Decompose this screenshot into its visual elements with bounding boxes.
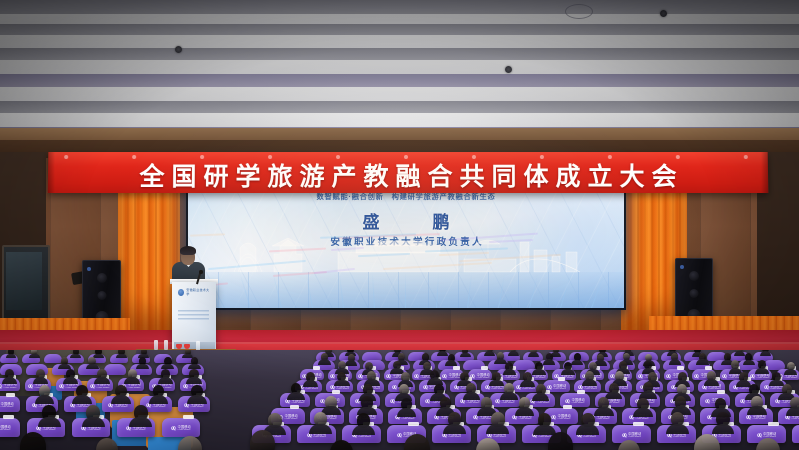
audience-member-shoulders	[582, 379, 597, 386]
banner-grommet	[744, 155, 748, 159]
audience-member-shoulders	[82, 417, 105, 427]
screen-grid-line	[591, 274, 604, 308]
audience-member-shoulders	[500, 392, 517, 400]
china-mobile-logo-icon	[414, 374, 419, 379]
audience-chair-cover: 中国移动China Mobile	[0, 418, 20, 437]
audience-member-shoulders	[334, 380, 349, 387]
chair-brand-label: 中国移动China Mobile	[477, 374, 490, 380]
audience-chair-cover: 中国移动China Mobile	[0, 396, 20, 412]
podium-logo-icon	[178, 289, 184, 296]
curtain-fold	[651, 172, 653, 332]
china-mobile-logo-icon	[622, 433, 627, 438]
seat-number-label	[577, 390, 585, 394]
china-mobile-logo-icon	[746, 415, 751, 420]
curtain-fold	[658, 172, 660, 332]
audience-member-shoulders	[571, 360, 583, 365]
chair-brand-label: 中国移动China Mobile	[97, 383, 110, 389]
china-mobile-logo-icon	[722, 374, 727, 379]
screen-grid-line	[622, 275, 624, 308]
cup-icon	[176, 344, 182, 349]
china-mobile-logo-icon	[551, 415, 556, 420]
chair-brand-label: 中国移动China Mobile	[757, 374, 770, 380]
banner-grommet	[404, 155, 408, 159]
audience-member-shoulders	[2, 377, 18, 384]
chair-brand-label: 中国移动China Mobile	[4, 383, 17, 389]
audience-seating-area: 中国移动China Mobile中国移动China Mobile中国移动Chin…	[0, 350, 799, 450]
chair-brand-tag: 中国移动China Mobile	[171, 426, 191, 432]
chair-brand-tag: 中国移动China Mobile	[495, 399, 515, 405]
audience-member-shoulders	[63, 377, 79, 384]
audience-member-shoulders	[755, 368, 769, 374]
audience-member-shoulders	[136, 364, 149, 370]
screen-grid-line	[239, 273, 250, 308]
audience-member-shoulders	[72, 395, 91, 404]
seat-number-label	[313, 366, 320, 370]
banner-grommet	[472, 155, 476, 159]
audience-member-shoulders	[543, 359, 555, 364]
curtain-fold	[148, 172, 150, 332]
speaker-driver-icon	[689, 271, 699, 281]
banner-title-text: 全国研学旅游产教融合共同体成立大会	[48, 157, 768, 193]
chair-brand-tag: 中国移动China Mobile	[470, 374, 490, 380]
curtain-fold	[127, 172, 129, 332]
china-mobile-logo-icon	[454, 385, 459, 390]
audience-member-shoulders	[734, 351, 745, 356]
audience-member-shoulders	[786, 407, 799, 416]
screen-grid-line	[339, 272, 344, 308]
audience-member-shoulders	[532, 369, 546, 375]
audience-member-shoulders	[696, 359, 708, 364]
banner-grommet	[676, 155, 680, 159]
china-mobile-logo-icon	[392, 385, 397, 390]
speaker-led-indicator	[87, 267, 91, 271]
audience-member-shoulders	[116, 354, 127, 359]
audience-member-shoulders	[594, 407, 614, 416]
banner-grommet	[336, 155, 340, 159]
seat-number-label	[408, 422, 419, 426]
audience-member-shoulders	[86, 364, 99, 370]
chair-brand-label: 中国移动China Mobile	[572, 399, 585, 405]
audience-member-shoulders	[124, 377, 140, 384]
curtain-fold	[630, 172, 632, 332]
china-mobile-logo-icon	[90, 384, 95, 389]
seat-number-label	[768, 422, 779, 426]
audience-member-shoulders	[149, 395, 168, 404]
curtain-fold	[155, 172, 157, 332]
audience-member-shoulders	[508, 351, 519, 356]
audience-member-shoulders	[38, 417, 61, 427]
audience-member-shoulders	[29, 354, 40, 359]
china-mobile-logo-icon	[183, 384, 188, 389]
audience-member-head	[178, 436, 202, 450]
china-mobile-logo-icon	[638, 374, 643, 379]
china-mobile-logo-icon	[565, 399, 570, 404]
seat-number-label	[3, 415, 14, 419]
audience-member-shoulders	[186, 377, 202, 384]
chair-brand-label: 中国移动China Mobile	[584, 385, 597, 391]
audience-member-shoulders	[528, 352, 539, 357]
banner-right-shadow	[761, 152, 768, 193]
screen-grid-line	[436, 272, 439, 308]
audience-member-shoulders	[743, 360, 755, 365]
red-event-banner: 全国研学旅游产教融合共同体成立大会	[48, 152, 768, 193]
china-mobile-logo-icon	[0, 384, 2, 389]
seat-number-label	[563, 405, 573, 409]
chair-brand-label: 中国移动China Mobile	[0, 426, 11, 432]
banner-left-shadow	[48, 152, 55, 193]
china-mobile-logo-icon	[485, 385, 490, 390]
audience-chair-cover	[44, 354, 62, 363]
chair-brand-tag: 中国移动China Mobile	[565, 399, 585, 405]
water-bottle-icon	[164, 340, 168, 350]
screen-grid-line	[405, 272, 406, 308]
chair-brand-tag: 中国移动China Mobile	[551, 415, 571, 421]
china-mobile-logo-icon	[423, 385, 428, 390]
china-mobile-logo-icon	[171, 426, 176, 431]
podium-decor-lines	[178, 310, 209, 322]
audience-member-shoulders	[747, 406, 767, 415]
china-mobile-logo-icon	[666, 374, 671, 379]
audience-member-shoulders	[111, 395, 130, 404]
audience-member-shoulders	[437, 351, 448, 356]
seat-number-label	[717, 390, 725, 394]
audience-member-head	[250, 430, 275, 450]
chair-brand-tag: 中国移动China Mobile	[0, 426, 11, 432]
audience-chair-cover: 中国移动China Mobile	[792, 425, 799, 443]
audience-member-shoulders	[576, 424, 599, 434]
screen-grid-line	[467, 272, 472, 308]
audience-member-shoulders	[633, 408, 653, 417]
seat-number-label	[633, 422, 644, 426]
screen-grid-line	[498, 272, 505, 308]
curtain-fold	[672, 172, 674, 332]
seat-number-label	[677, 366, 684, 370]
china-mobile-logo-icon	[330, 374, 335, 379]
audience-member-shoulders	[158, 377, 174, 384]
chair-brand-tag: 中国移动China Mobile	[90, 383, 110, 389]
banner-grommet	[200, 155, 204, 159]
chair-brand-tag: 中国移动China Mobile	[746, 415, 766, 421]
seat-number-label	[290, 405, 300, 409]
chair-brand-tag: 中国移动China Mobile	[0, 383, 17, 389]
seat-number-label	[558, 377, 566, 381]
podium-logo-label: 安徽职业技术大学	[186, 289, 210, 296]
china-mobile-logo-icon	[386, 374, 391, 379]
chair-brand-label: 中国移动China Mobile	[1, 403, 14, 409]
audience-member-shoulders	[6, 354, 17, 359]
chair-brand-label: 中国移动China Mobile	[558, 415, 571, 421]
audience-chair-cover	[104, 364, 126, 375]
chair-brand-label: 中国移动China Mobile	[128, 383, 141, 389]
china-mobile-logo-icon	[757, 433, 762, 438]
curtain-fold	[169, 172, 171, 332]
chair-brand-label: 中国移动China Mobile	[553, 385, 566, 391]
china-mobile-logo-icon	[397, 433, 402, 438]
screen-grid-line	[372, 272, 375, 308]
audience-member-shoulders	[489, 380, 504, 387]
chair-brand-tag: 中国移动China Mobile	[750, 374, 770, 380]
seat-number-label	[453, 366, 460, 370]
china-mobile-logo-icon	[702, 385, 707, 390]
audience-member-shoulders	[445, 360, 457, 365]
cup-icon	[184, 344, 190, 349]
seat-number-label	[481, 366, 488, 370]
china-mobile-logo-icon	[764, 385, 769, 390]
screen-perspective-grid	[188, 272, 624, 308]
audience-member-shoulders	[484, 351, 495, 356]
screen-grid-line	[529, 273, 538, 308]
speaker-driver-icon	[97, 273, 107, 283]
audience-member-shoulders	[33, 377, 49, 384]
audience-member-shoulders	[287, 392, 304, 400]
stage-curtain-left	[118, 172, 180, 332]
china-mobile-logo-icon	[28, 384, 33, 389]
screen-grid-line	[560, 273, 571, 308]
banner-grommet	[132, 155, 136, 159]
side-door-glass	[6, 252, 42, 310]
microphone-icon	[199, 270, 203, 274]
audience-member-shoulders	[704, 379, 719, 386]
screen-grid-line	[306, 272, 313, 308]
speaker-driver-icon	[97, 291, 106, 300]
banner-grommet	[64, 155, 68, 159]
banner-grommet	[268, 155, 272, 159]
water-bottle-icon	[154, 340, 158, 350]
audience-member-shoulders	[503, 369, 517, 375]
audience-member-shoulders	[352, 425, 375, 435]
curtain-fold	[141, 172, 143, 332]
chair-brand-label: 中国移动China Mobile	[178, 426, 191, 432]
china-mobile-logo-icon	[694, 374, 699, 379]
china-mobile-logo-icon	[495, 399, 500, 404]
china-mobile-logo-icon	[434, 415, 439, 420]
audience-member-shoulders	[460, 353, 471, 358]
seat-number-label	[332, 390, 340, 394]
audience-member-shoulders	[561, 369, 575, 375]
conference-hall-photo: 安徽机电职业技术学院 安徽大学 研学旅游网 数智赋能·融合创新 构建研学旅游产教…	[0, 0, 799, 450]
china-mobile-logo-icon	[59, 384, 64, 389]
curtain-fold	[637, 172, 639, 332]
curtain-fold	[665, 172, 667, 332]
audience-member-shoulders	[187, 395, 206, 404]
seat-number-label	[6, 393, 15, 397]
screen-speaker-name: 盛 鹏	[188, 208, 624, 233]
chair-brand-tag: 中国移动China Mobile	[442, 374, 462, 380]
presenter-hair	[180, 246, 196, 255]
speaker-driver-icon	[690, 289, 699, 298]
audience-member-shoulders	[760, 351, 771, 356]
chair-brand-tag: 中国移动China Mobile	[0, 403, 14, 409]
chair-brand-tag: 中国移动China Mobile	[622, 433, 642, 439]
china-mobile-logo-icon	[285, 399, 290, 404]
audience-member-shoulders	[669, 359, 681, 364]
audience-member-shoulders	[94, 377, 110, 384]
chair-brand-label: 中国移动China Mobile	[753, 415, 766, 421]
screen-grid-line	[273, 273, 282, 308]
curtain-fold	[162, 172, 164, 332]
banner-grommet	[608, 155, 612, 159]
chair-brand-label: 中国移动China Mobile	[502, 399, 515, 405]
china-mobile-logo-icon	[705, 399, 710, 404]
podium-logo: 安徽职业技术大学	[178, 288, 210, 297]
seat-number-label	[705, 366, 712, 370]
chair-brand-label: 中国移动China Mobile	[285, 415, 298, 421]
curtain-fold	[134, 172, 136, 332]
audience-member-shoulders	[70, 354, 81, 359]
curtain-fold	[644, 172, 646, 332]
seat-number-label	[183, 415, 194, 419]
chair-brand-label: 中国移动China Mobile	[628, 433, 641, 439]
audience-member-shoulders	[35, 395, 54, 404]
screen-subheading: 数智赋能·融合创新 构建研学旅游产教融合新生态	[188, 192, 624, 202]
audience-member-shoulders	[303, 380, 318, 387]
banner-grommet	[540, 155, 544, 159]
audience-member-shoulders	[318, 359, 330, 364]
audience-member-head	[404, 434, 430, 450]
speaker-led-indicator	[680, 265, 684, 269]
china-mobile-logo-icon	[442, 374, 447, 379]
audience-member-shoulders	[463, 392, 480, 400]
audience-chair-cover: 中国移动China Mobile	[162, 418, 200, 437]
